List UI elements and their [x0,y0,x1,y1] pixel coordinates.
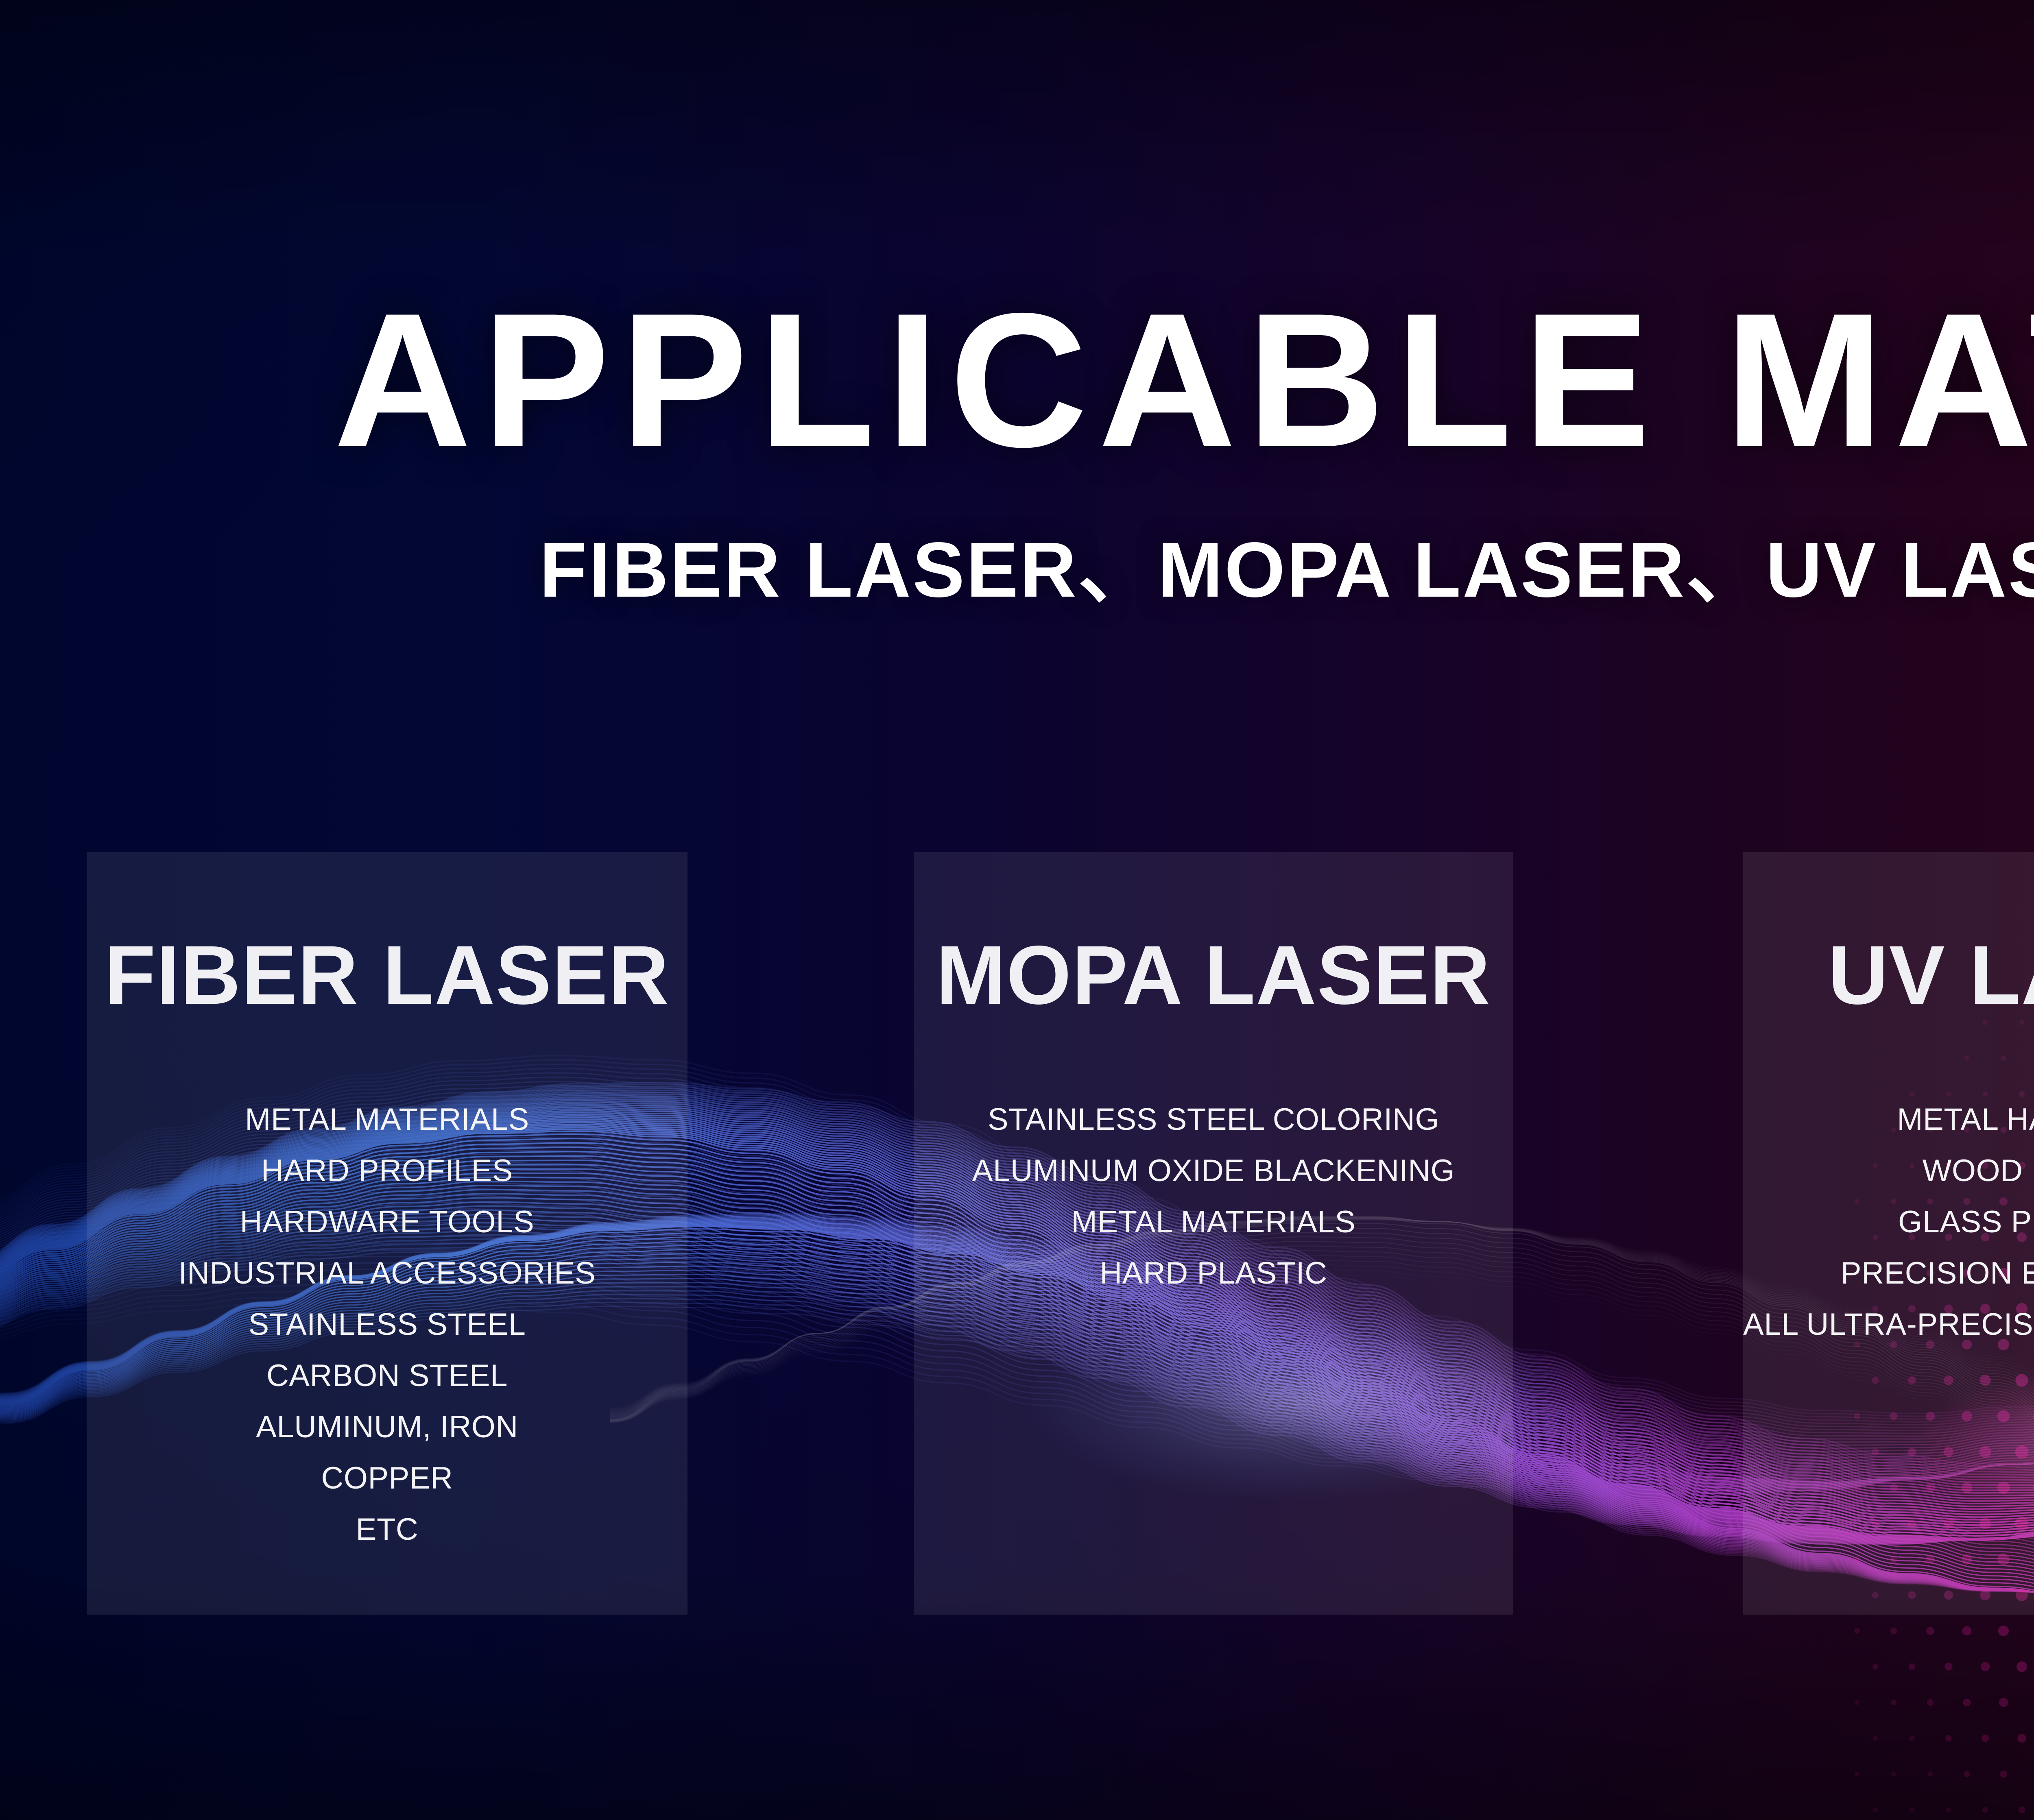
list-item: GLASS PRODUCTS [1743,1197,2034,1248]
card-list-uv-laser: METAL HARDWAREWOOD PLASTICGLASS PRODUCTS… [1743,1094,2034,1350]
list-item: WOOD PLASTIC [1743,1145,2034,1197]
card-title-fiber-laser: FIBER LASER [87,933,687,1017]
card-list-fiber-laser: METAL MATERIALSHARD PROFILESHARDWARE TOO… [87,1094,687,1555]
list-item: INDUSTRIAL ACCESSORIES [87,1248,687,1299]
list-item: METAL MATERIALS [87,1094,687,1145]
list-item: METAL MATERIALS [914,1197,1513,1248]
list-item: HARDWARE TOOLS [87,1197,687,1248]
list-item: HARD PLASTIC [914,1248,1513,1299]
list-item: CARBON STEEL [87,1350,687,1402]
list-item: HARD PROFILES [87,1145,687,1197]
card-list-mopa-laser: STAINLESS STEEL COLORINGALUMINUM OXIDE B… [914,1094,1513,1299]
list-item: COPPER [87,1453,687,1504]
list-item: ETC [87,1504,687,1555]
card-title-mopa-laser: MOPA LASER [914,933,1513,1017]
list-item: STAINLESS STEEL COLORING [914,1094,1513,1145]
card-title-uv-laser: UV LASER [1743,933,2034,1017]
list-item: ALL ULTRA-PRECISION ENGRAVING MATERIALS [1743,1299,2034,1350]
card-mopa-laser[interactable]: MOPA LASER STAINLESS STEEL COLORINGALUMI… [914,852,1513,1615]
list-item: STAINLESS STEEL [87,1299,687,1350]
page-title: APPLICABLE MATERIALS [0,285,2034,476]
list-item: ALUMINUM, IRON [87,1402,687,1453]
card-fiber-laser[interactable]: FIBER LASER METAL MATERIALSHARD PROFILES… [87,852,687,1615]
list-item: METAL HARDWARE [1743,1094,2034,1145]
list-item: PRECISION ELECTRONICS [1743,1248,2034,1299]
page-subtitle: FIBER LASER、MOPA LASER、UV LASER、CO2 LASE… [0,531,2034,609]
list-item: ALUMINUM OXIDE BLACKENING [914,1145,1513,1197]
card-uv-laser[interactable]: UV LASER METAL HARDWAREWOOD PLASTICGLASS… [1743,852,2034,1615]
